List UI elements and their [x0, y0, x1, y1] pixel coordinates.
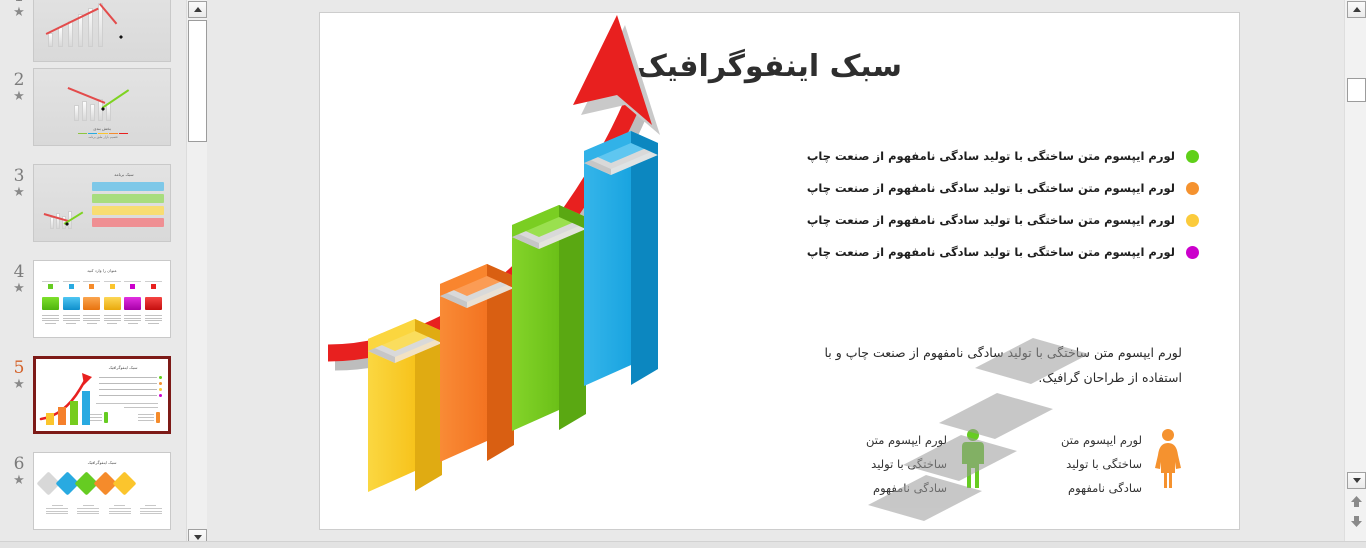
bullet-text: لورم ایپسوم متن ساختگی با تولید سادگی نا…: [807, 179, 1175, 197]
bar-2: [440, 264, 514, 462]
current-slide-canvas[interactable]: سبک اینفوگرافیک لورم ایپسوم متن ساختگی ب…: [319, 12, 1240, 530]
mini-slide-2-title: بخش بندی: [34, 126, 170, 131]
bar-4: [584, 131, 658, 386]
double-chevron-down-icon: [1350, 516, 1363, 528]
bullet-dot-icon: [1186, 182, 1199, 195]
thumbnail-meta-5: 5 ★: [6, 358, 32, 392]
status-bar-strip: [0, 541, 1366, 548]
thumbnail-meta-3: 3 ★: [6, 166, 32, 200]
mini-slide-2: بخش بندی تقسیم بازار طبق برنامه: [34, 69, 170, 145]
chevron-down-icon: [1353, 478, 1361, 483]
thumbnail-scroll-up-button[interactable]: [188, 1, 207, 18]
slide-scrollbar-thumb[interactable]: [1347, 78, 1366, 102]
slide-scrollbar[interactable]: [1344, 0, 1366, 548]
person-block-male[interactable]: لورم ایپسوم متن ساختگی با تولید سادگی نا…: [842, 428, 989, 500]
female-person-icon: [1152, 428, 1184, 490]
chevron-down-icon: [194, 535, 202, 540]
male-person-icon: [957, 428, 989, 490]
mini-slide-3-title: سبک برنامه: [84, 172, 164, 177]
slide-thumbnail-panel[interactable]: 1 ★ نمودار کاهش فروش: [0, 0, 183, 548]
thumbnail-frame[interactable]: بخش بندی تقسیم بازار طبق برنامه: [33, 68, 171, 146]
bullet-item[interactable]: لورم ایپسوم متن ساختگی با تولید سادگی نا…: [779, 211, 1199, 229]
animation-star-icon: ★: [6, 90, 32, 104]
chevron-up-icon: [194, 7, 202, 12]
mini-slide-5: سبک اینفوگرافیک: [36, 359, 168, 431]
thumbnail-frame[interactable]: سبک اینفوگرافیک: [33, 452, 171, 530]
thumbnail-number: 3: [6, 166, 32, 186]
previous-slide-button[interactable]: [1347, 494, 1366, 510]
thumbnail-frame[interactable]: نمودار کاهش فروش: [33, 0, 171, 62]
thumbnail-frame[interactable]: عنوان را وارد کنید: [33, 260, 171, 338]
thumbnail-frame-selected[interactable]: سبک اینفوگرافیک: [33, 356, 171, 434]
thumbnail-number: 4: [6, 262, 32, 282]
thumbnail-number: 2: [6, 70, 32, 90]
thumbnail-number: 5: [6, 358, 32, 378]
mini-slide-3: سبک برنامه: [34, 165, 170, 241]
thumbnail-scrollbar[interactable]: [186, 0, 207, 548]
thumbnail-scrollbar-thumb[interactable]: [188, 20, 207, 142]
bullet-text: لورم ایپسوم متن ساختگی با تولید سادگی نا…: [807, 147, 1175, 165]
bullet-item[interactable]: لورم ایپسوم متن ساختگی با تولید سادگی نا…: [779, 243, 1199, 261]
bar-1: [368, 319, 442, 492]
slide-title[interactable]: سبک اینفوگرافیک: [359, 49, 1179, 84]
bullet-item[interactable]: لورم ایپسوم متن ساختگی با تولید سادگی نا…: [779, 147, 1199, 165]
bullet-dot-icon: [1186, 246, 1199, 259]
slide-scroll-up-button[interactable]: [1347, 1, 1366, 18]
mini-slide-6-title: سبک اینفوگرافیک: [34, 460, 170, 465]
persons-row[interactable]: لورم ایپسوم متن ساختگی با تولید سادگی نا…: [774, 428, 1184, 500]
bullet-text: لورم ایپسوم متن ساختگی با تولید سادگی نا…: [807, 211, 1175, 229]
animation-star-icon: ★: [6, 6, 32, 20]
mini-slide-6: سبک اینفوگرافیک: [34, 453, 170, 529]
mini-slide-1: نمودار کاهش فروش: [34, 0, 170, 61]
bullet-text: لورم ایپسوم متن ساختگی با تولید سادگی نا…: [807, 243, 1175, 261]
slide-paragraph[interactable]: لورم ایپسوم متن ساختگی با تولید سادگی نا…: [797, 340, 1182, 390]
person-text: لورم ایپسوم متن ساختگی با تولید سادگی نا…: [1037, 428, 1142, 500]
animation-star-icon: ★: [6, 474, 32, 488]
slide-editing-stage[interactable]: سبک اینفوگرافیک لورم ایپسوم متن ساختگی ب…: [207, 0, 1344, 541]
animation-star-icon: ★: [6, 186, 32, 200]
bar-3: [512, 205, 586, 431]
double-chevron-up-icon: [1350, 496, 1363, 508]
bullet-dot-icon: [1186, 150, 1199, 163]
thumbnail-meta-4: 4 ★: [6, 262, 32, 296]
bullet-item[interactable]: لورم ایپسوم متن ساختگی با تولید سادگی نا…: [779, 179, 1199, 197]
thumbnail-frame[interactable]: سبک برنامه: [33, 164, 171, 242]
next-slide-button[interactable]: [1347, 514, 1366, 530]
slide-scroll-down-button[interactable]: [1347, 472, 1366, 489]
animation-star-icon: ★: [6, 378, 32, 392]
chevron-up-icon: [1353, 7, 1361, 12]
thumbnail-meta-2: 2 ★: [6, 70, 32, 104]
person-block-female[interactable]: لورم ایپسوم متن ساختگی با تولید سادگی نا…: [1037, 428, 1184, 500]
person-text: لورم ایپسوم متن ساختگی با تولید سادگی نا…: [842, 428, 947, 500]
powerpoint-window: 1 ★ نمودار کاهش فروش: [0, 0, 1366, 548]
thumbnail-meta-1: 1 ★: [6, 0, 32, 20]
bullet-list[interactable]: لورم ایپسوم متن ساختگی با تولید سادگی نا…: [779, 147, 1199, 271]
mini-slide-4: عنوان را وارد کنید: [34, 261, 170, 337]
thumbnail-meta-6: 6 ★: [6, 454, 32, 488]
thumbnail-number: 6: [6, 454, 32, 474]
mini-slide-4-title: عنوان را وارد کنید: [34, 268, 170, 273]
bullet-dot-icon: [1186, 214, 1199, 227]
animation-star-icon: ★: [6, 282, 32, 296]
